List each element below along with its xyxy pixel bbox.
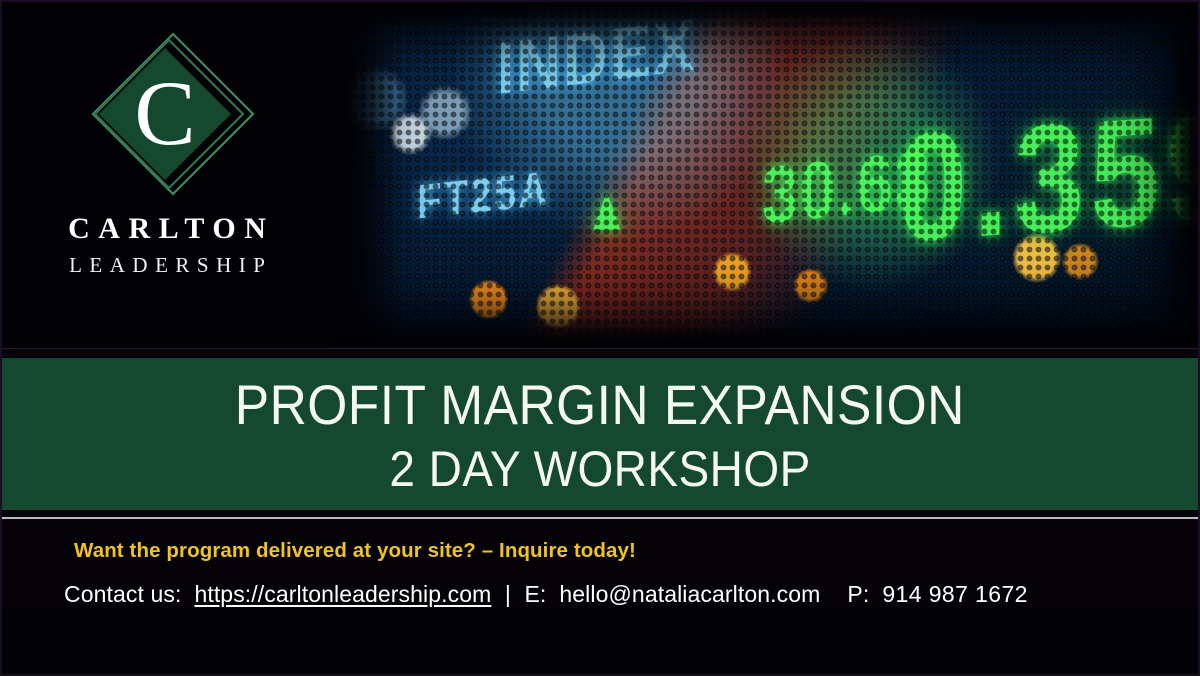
website-link[interactable]: https://carltonleadership.com	[194, 581, 491, 607]
brand-subname: LEADERSHIP	[62, 255, 273, 276]
photo-vignette	[332, 2, 1198, 348]
photo-fade-bottom	[332, 322, 1198, 348]
diamond-logo-icon: C	[77, 26, 257, 206]
footer-tagline: Want the program delivered at your site?…	[2, 539, 1198, 564]
footer-bottom-spacer	[2, 608, 1198, 670]
banner-subtitle: 2 DAY WORKSHOP	[389, 441, 810, 497]
brand-logo-block: C CARLTON LEADERSHIP	[2, 2, 332, 348]
photo-fade-right	[1168, 2, 1198, 348]
banner-top-rule	[2, 348, 1198, 358]
banner-title: PROFIT MARGIN EXPANSION	[235, 375, 965, 434]
photo-fade-left	[332, 2, 402, 348]
phone-label: P:	[847, 581, 869, 607]
brand-name: CARLTON	[60, 214, 275, 244]
logo-letter-c: C	[134, 62, 195, 164]
stock-ticker-photo: INDEX FT25A ▲ 30.63 0.359%	[332, 2, 1198, 348]
email-label: E:	[524, 581, 546, 607]
contact-prefix-label: Contact us:	[64, 581, 181, 607]
footer-top-spacer	[2, 510, 1198, 517]
contact-divider: |	[498, 581, 518, 607]
promo-poster: INDEX FT25A ▲ 30.63 0.359% C CARLTON	[0, 0, 1200, 676]
footer-section: Want the program delivered at your site?…	[2, 519, 1198, 608]
photo-fade-top	[332, 2, 1198, 28]
email-address[interactable]: hello@nataliacarlton.com	[559, 581, 820, 607]
hero-section: INDEX FT25A ▲ 30.63 0.359% C CARLTON	[2, 2, 1198, 348]
footer-contact-line: Contact us: https://carltonleadership.co…	[2, 580, 1198, 609]
title-banner: PROFIT MARGIN EXPANSION 2 DAY WORKSHOP	[2, 358, 1198, 510]
phone-number[interactable]: 914 987 1672	[882, 581, 1028, 607]
